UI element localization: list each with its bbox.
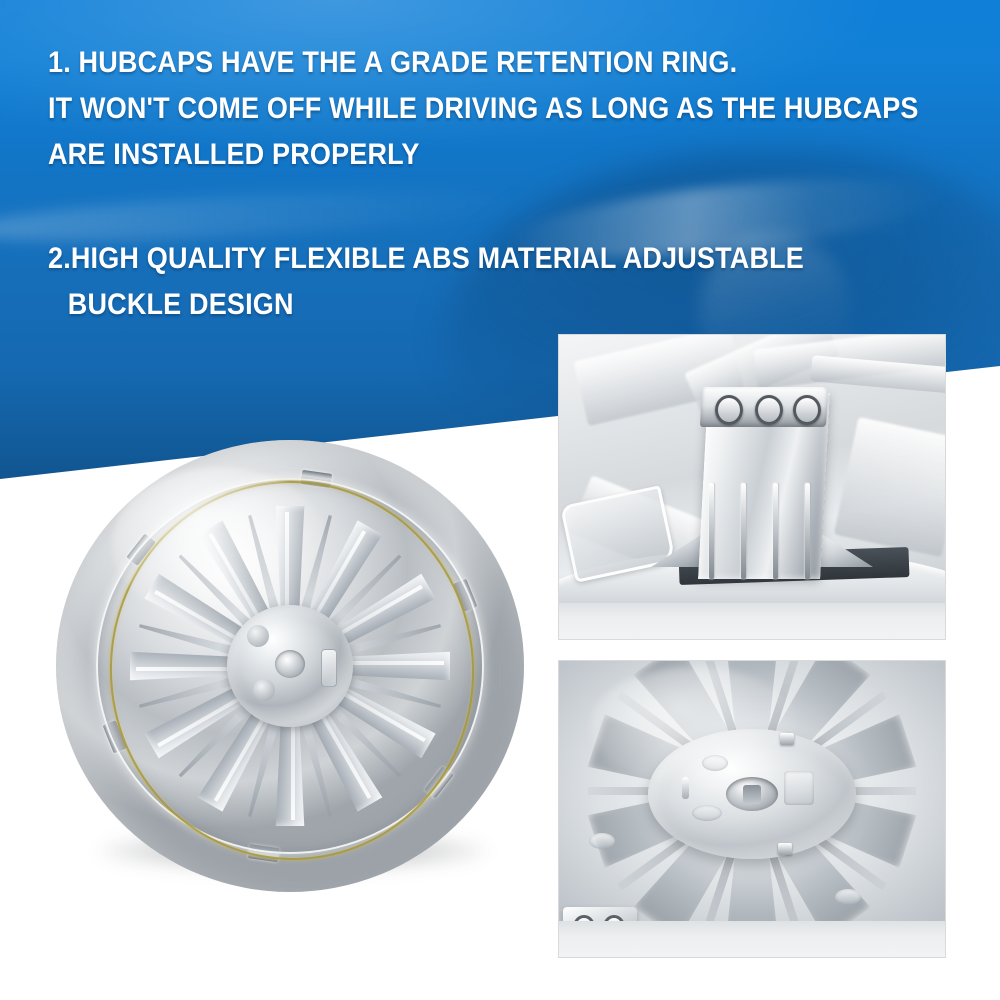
retention-clip-closeup-photo: [558, 334, 946, 640]
hub-specular-sheen: [590, 667, 798, 785]
hub-emboss-mark: [253, 679, 275, 701]
hub-back-scene: [559, 661, 945, 957]
feature-two-text-block: 2.HIGH QUALITY FLEXIBLE ABS MATERIAL ADJ…: [48, 236, 978, 328]
feature-one-line-3: ARE INSTALLED PROPERLY: [48, 132, 885, 178]
clip-prong: [773, 483, 778, 579]
hub-center-boss: [275, 650, 305, 678]
feature-one-line-2: IT WON'T COME OFF WHILE DRIVING AS LONG …: [48, 86, 885, 132]
feature-one-line-1: 1. HUBCAPS HAVE THE A GRADE RETENTION RI…: [48, 40, 885, 86]
disc-emboss-mark: [692, 805, 722, 821]
clip-retention-loop: [715, 395, 743, 425]
clip-prong: [709, 483, 714, 579]
disc-badge-emboss: [784, 771, 814, 805]
hubcap-center-hub-closeup-photo: [558, 660, 946, 958]
feature-two-line-1: 2.HIGH QUALITY FLEXIBLE ABS MATERIAL ADJ…: [48, 236, 885, 282]
hubcap-specular-glare: [112, 467, 327, 621]
hubcap-center-hub: [227, 605, 353, 727]
backing-rib: [834, 417, 946, 557]
feature-one-text-block: 1. HUBCAPS HAVE THE A GRADE RETENTION RI…: [48, 40, 978, 178]
feature-two-line-2: BUCKLE DESIGN: [48, 282, 885, 328]
infographic-page: 1. HUBCAPS HAVE THE A GRADE RETENTION RI…: [0, 0, 1000, 1000]
hub-emboss-mark: [247, 625, 269, 647]
panel-floor-strip: [559, 921, 945, 957]
molding-dot: [835, 889, 861, 905]
clip-retention-loop: [755, 395, 783, 425]
clip-prong: [805, 483, 810, 579]
hubcap-wheel-graphic: [56, 440, 524, 892]
molding-dot: [589, 833, 615, 849]
clip-scene: [559, 335, 945, 639]
panel-floor-strip: [559, 603, 945, 639]
hub-badge-emboss: [321, 649, 337, 687]
disc-alignment-pin: [778, 843, 792, 855]
disc-center-boss: [726, 777, 778, 811]
clip-prong: [741, 483, 746, 579]
hubcap-rear-view-photo: [38, 432, 538, 922]
clip-retention-loop: [793, 395, 821, 425]
